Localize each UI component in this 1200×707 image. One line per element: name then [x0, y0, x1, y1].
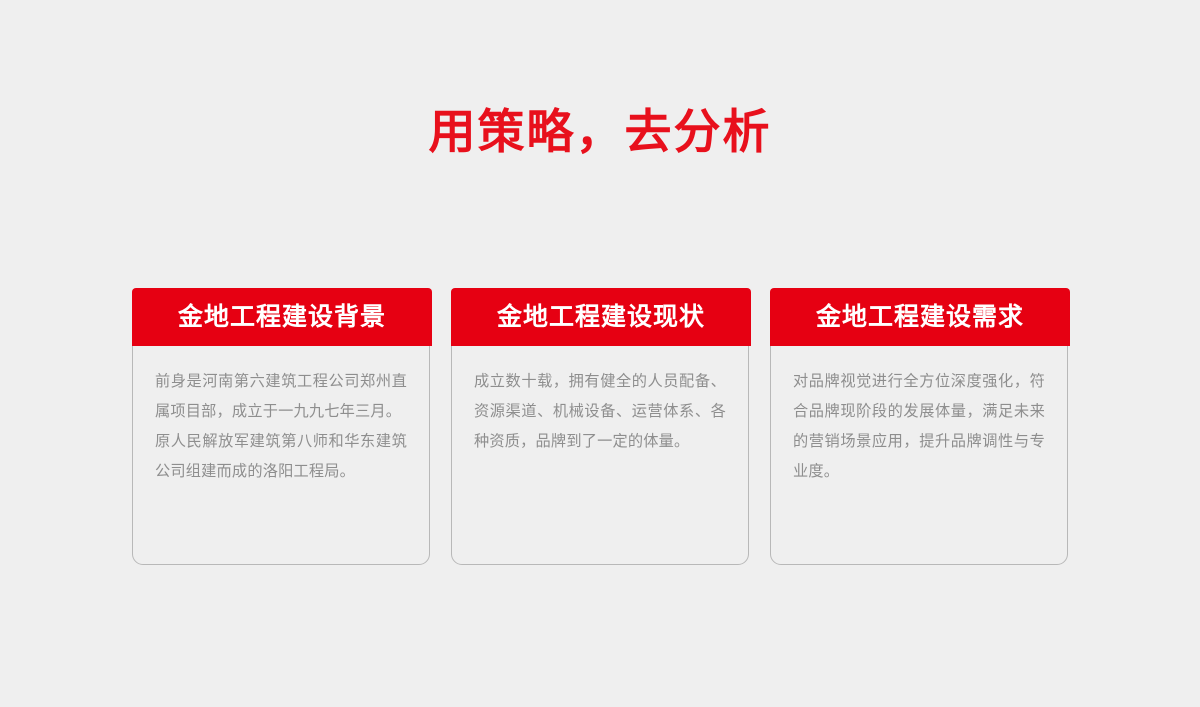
- slide-canvas: 用策略，去分析 金地工程建设背景 前身是河南第六建筑工程公司郑州直属项目部，成立…: [0, 0, 1200, 707]
- card-background: 金地工程建设背景 前身是河南第六建筑工程公司郑州直属项目部，成立于一九九七年三月…: [132, 288, 430, 565]
- card-header-requirements: 金地工程建设需求: [770, 288, 1070, 346]
- card-paragraph: 原人民解放军建筑第八师和华东建筑公司组建而成的洛阳工程局。: [155, 427, 407, 487]
- card-paragraph: 成立数十载，拥有健全的人员配备、资源渠道、机械设备、运营体系、各种资质，品牌到了…: [474, 367, 726, 457]
- card-body-status: 成立数十载，拥有健全的人员配备、资源渠道、机械设备、运营体系、各种资质，品牌到了…: [452, 347, 748, 457]
- card-body-background: 前身是河南第六建筑工程公司郑州直属项目部，成立于一九九七年三月。 原人民解放军建…: [133, 347, 429, 487]
- page-title: 用策略，去分析: [0, 104, 1200, 160]
- card-header-label: 金地工程建设需求: [816, 305, 1024, 330]
- card-header-background: 金地工程建设背景: [132, 288, 432, 346]
- card-status: 金地工程建设现状 成立数十载，拥有健全的人员配备、资源渠道、机械设备、运营体系、…: [451, 288, 749, 565]
- card-paragraph: 前身是河南第六建筑工程公司郑州直属项目部，成立于一九九七年三月。: [155, 367, 407, 427]
- cards-row: 金地工程建设背景 前身是河南第六建筑工程公司郑州直属项目部，成立于一九九七年三月…: [132, 288, 1068, 565]
- card-header-label: 金地工程建设现状: [497, 305, 705, 330]
- card-header-label: 金地工程建设背景: [178, 305, 386, 330]
- card-header-status: 金地工程建设现状: [451, 288, 751, 346]
- card-body-requirements: 对品牌视觉进行全方位深度强化，符合品牌现阶段的发展体量，满足未来的营销场景应用，…: [771, 347, 1067, 487]
- card-requirements: 金地工程建设需求 对品牌视觉进行全方位深度强化，符合品牌现阶段的发展体量，满足未…: [770, 288, 1068, 565]
- card-paragraph: 对品牌视觉进行全方位深度强化，符合品牌现阶段的发展体量，满足未来的营销场景应用，…: [793, 367, 1045, 487]
